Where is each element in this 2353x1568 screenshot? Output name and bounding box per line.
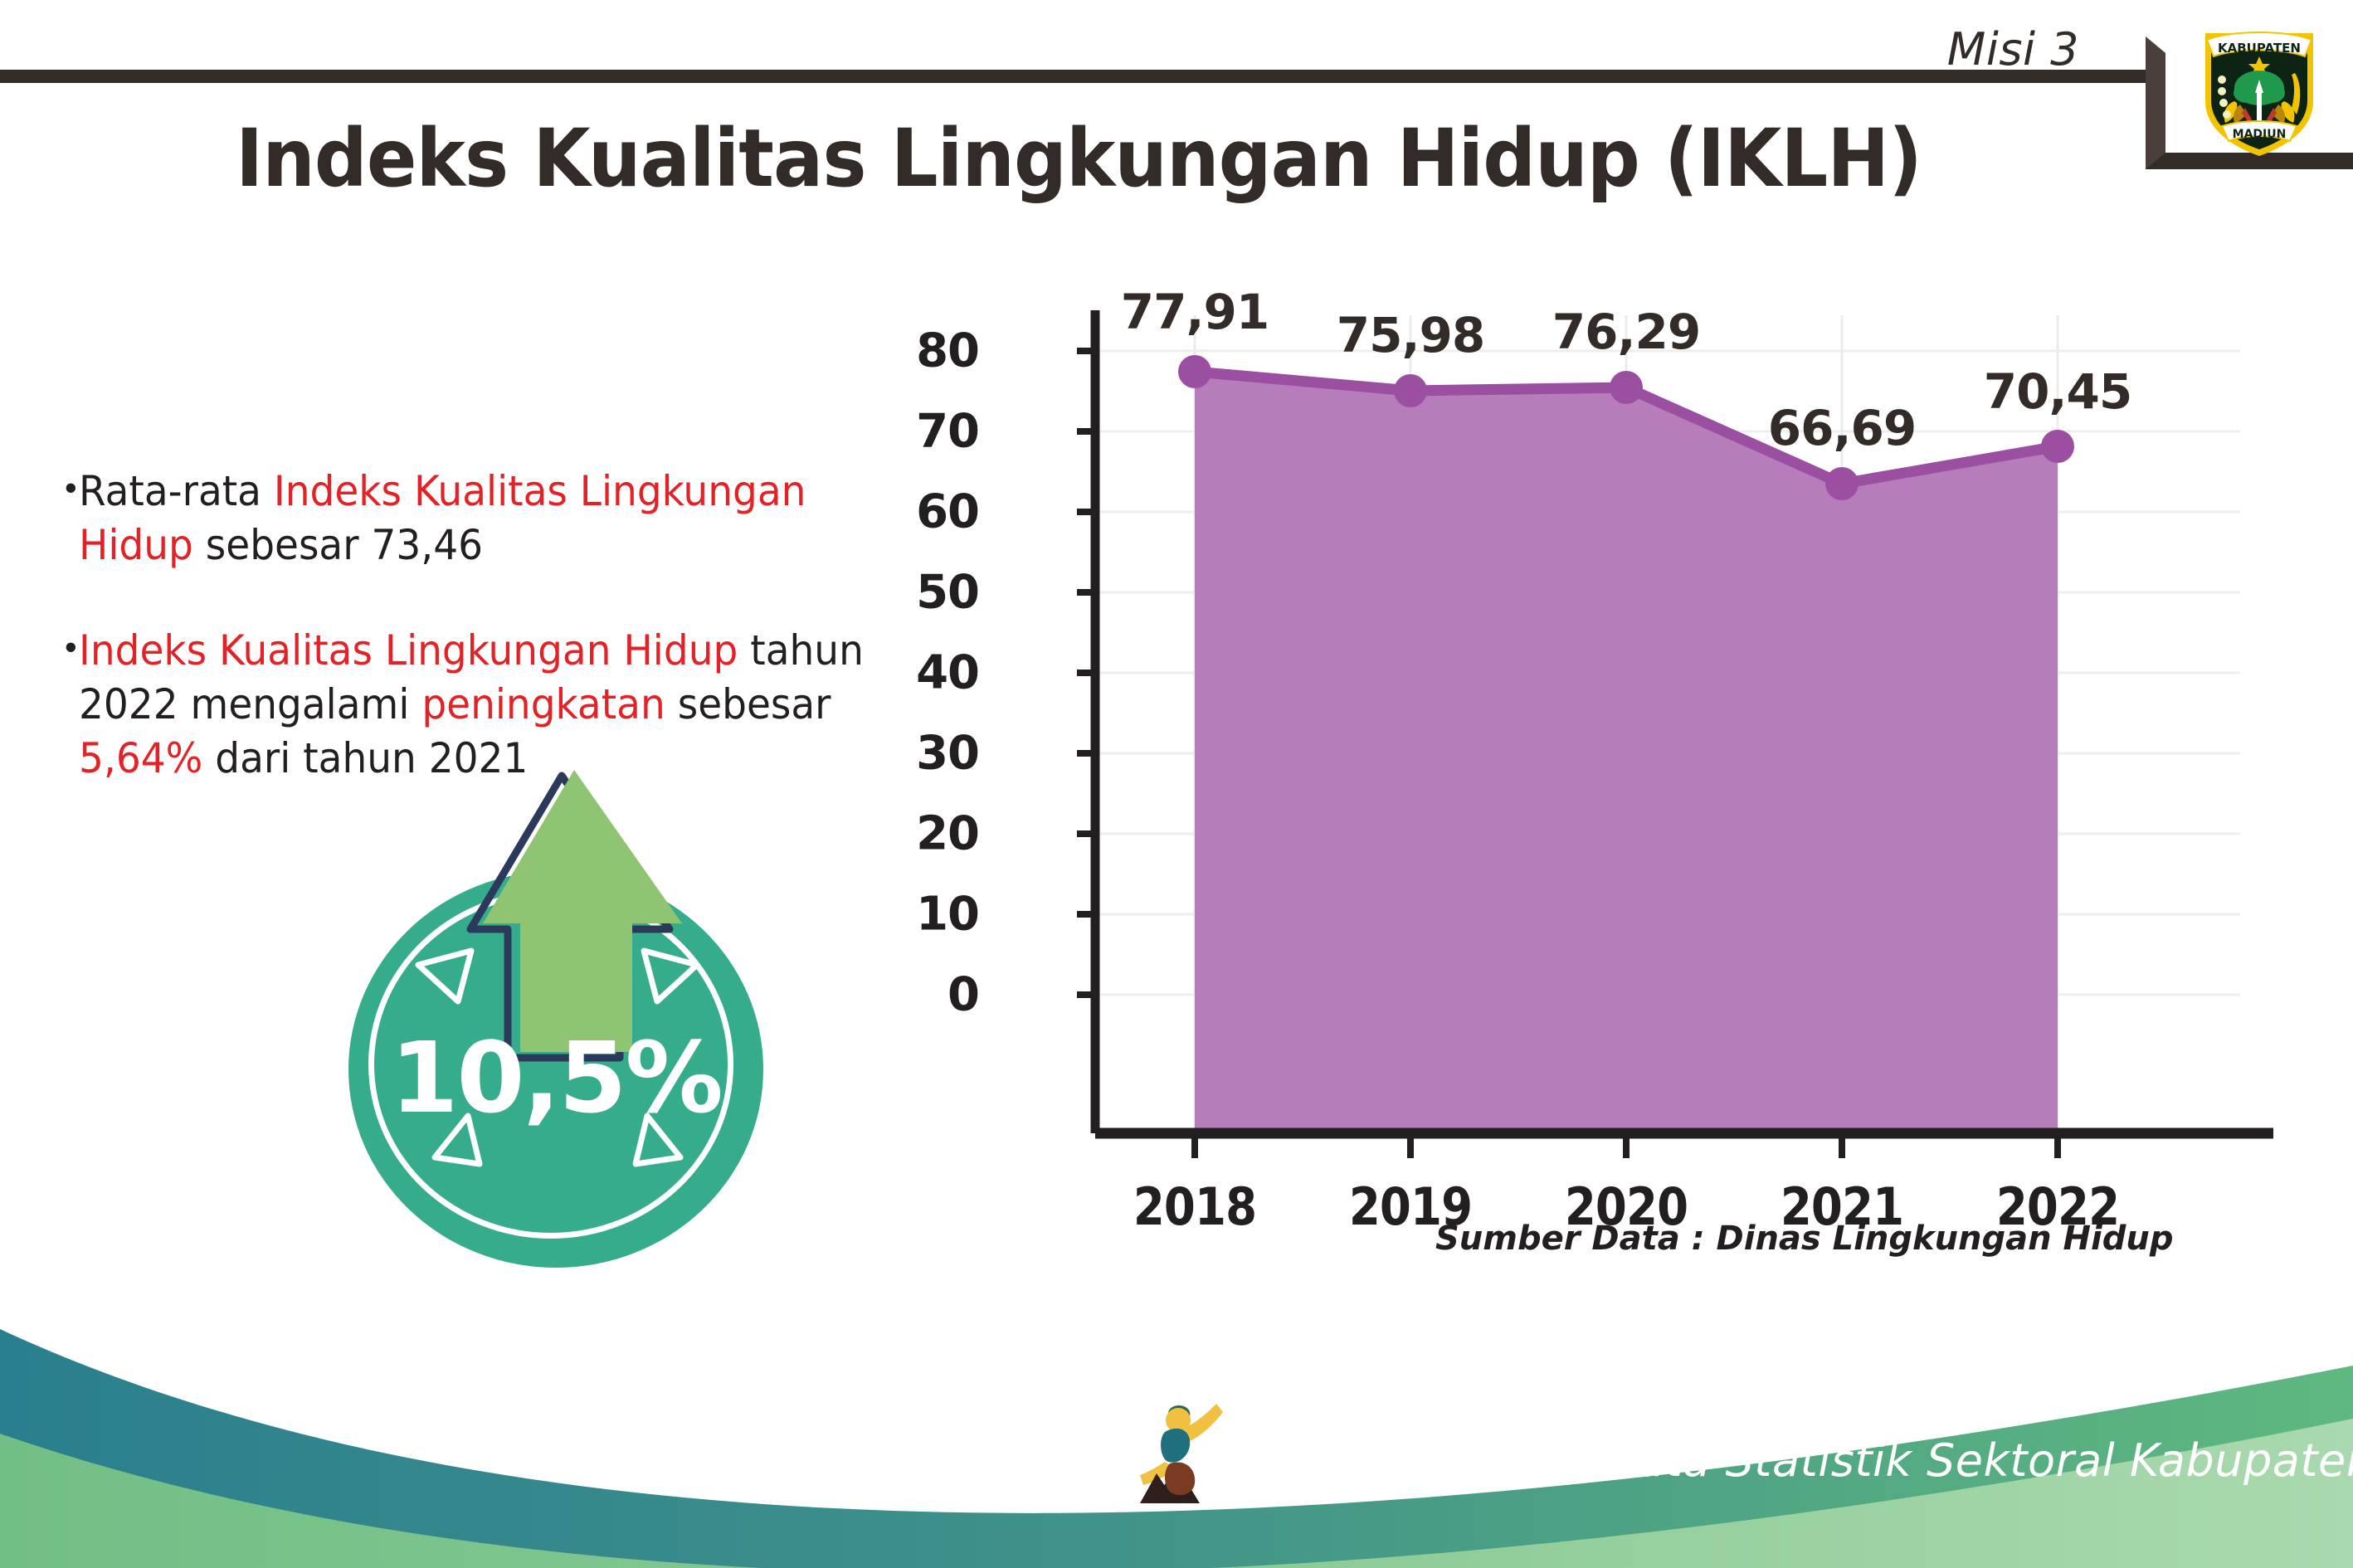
y-tick-label-10: 10 [871, 888, 979, 942]
list-item: • Rata-rata Indeks Kualitas Lingkungan H… [65, 465, 919, 572]
bullet-change-seg-0: Indeks Kualitas Lingkungan Hidup [79, 626, 738, 674]
bullet-dot-icon: • [65, 624, 77, 670]
bullet-change-seg-4: 5,64% [79, 734, 202, 782]
y-tick-label-60: 60 [871, 485, 979, 539]
kabupaten-madiun-emblem: KABUPATEN MADIUN [2197, 22, 2321, 161]
data-label-2018: 77,91 [1070, 284, 1319, 340]
y-tick-label-30: 30 [871, 727, 979, 781]
header-rule [0, 70, 2156, 83]
mission-label: Misi 3 [1947, 23, 2079, 75]
y-tick-label-80: 80 [871, 324, 979, 378]
footer-band: Media Infografis Data Statistik Sektoral… [0, 1294, 2353, 1568]
chart-source-note: Sumber Data : Dinas Lingkungan Hidup [1435, 1220, 2173, 1258]
svg-text:KABUPATEN: KABUPATEN [2218, 41, 2301, 56]
infographic-page: Misi 3 KABUPATEN MADIUN Indeks Kualitas … [0, 0, 2353, 1568]
y-tick-label-0: 0 [871, 968, 979, 1022]
bullet-dot-icon: • [65, 465, 77, 511]
data-label-2020: 76,29 [1502, 304, 1751, 360]
chart-area-fill [1195, 372, 2058, 1133]
bullet-average-seg-0: Rata-rata [79, 467, 274, 515]
iklh-area-chart: 0 10 20 30 40 50 60 70 80 2018 2019 2020… [979, 299, 2307, 1178]
bullet-average-seg-2: sebesar 73,46 [193, 521, 483, 569]
badge-value: 10,5% [348, 1020, 763, 1135]
data-label-2022: 70,45 [1933, 363, 2182, 420]
media-infografis-figure-icon [1140, 1397, 1233, 1503]
y-tick-label-50: 50 [871, 566, 979, 620]
y-tick-label-20: 20 [871, 807, 979, 861]
y-tick-label-70: 70 [871, 405, 979, 459]
bullet-change-seg-3: sebesar [665, 680, 831, 728]
chart-svg [979, 299, 2307, 1178]
bullet-change-seg-2: peningkatan [421, 680, 665, 728]
data-label-2019: 75,98 [1286, 307, 1535, 363]
percentage-badge: 10,5% [325, 743, 790, 1257]
data-label-2021: 66,69 [1717, 400, 1966, 456]
up-arrow-icon [325, 743, 790, 1257]
footer-caption: Media Infografis Data Statistik Sektoral… [1221, 1434, 2353, 1487]
bullet-average-text: Rata-rata Indeks Kualitas Lingkungan Hid… [79, 465, 869, 572]
svg-text:MADIUN: MADIUN [2233, 128, 2287, 141]
page-title: Indeks Kualitas Lingkungan Hidup (IKLH) [76, 112, 2082, 205]
y-tick-label-40: 40 [871, 646, 979, 700]
x-tick-label-2018: 2018 [1100, 1176, 1290, 1237]
